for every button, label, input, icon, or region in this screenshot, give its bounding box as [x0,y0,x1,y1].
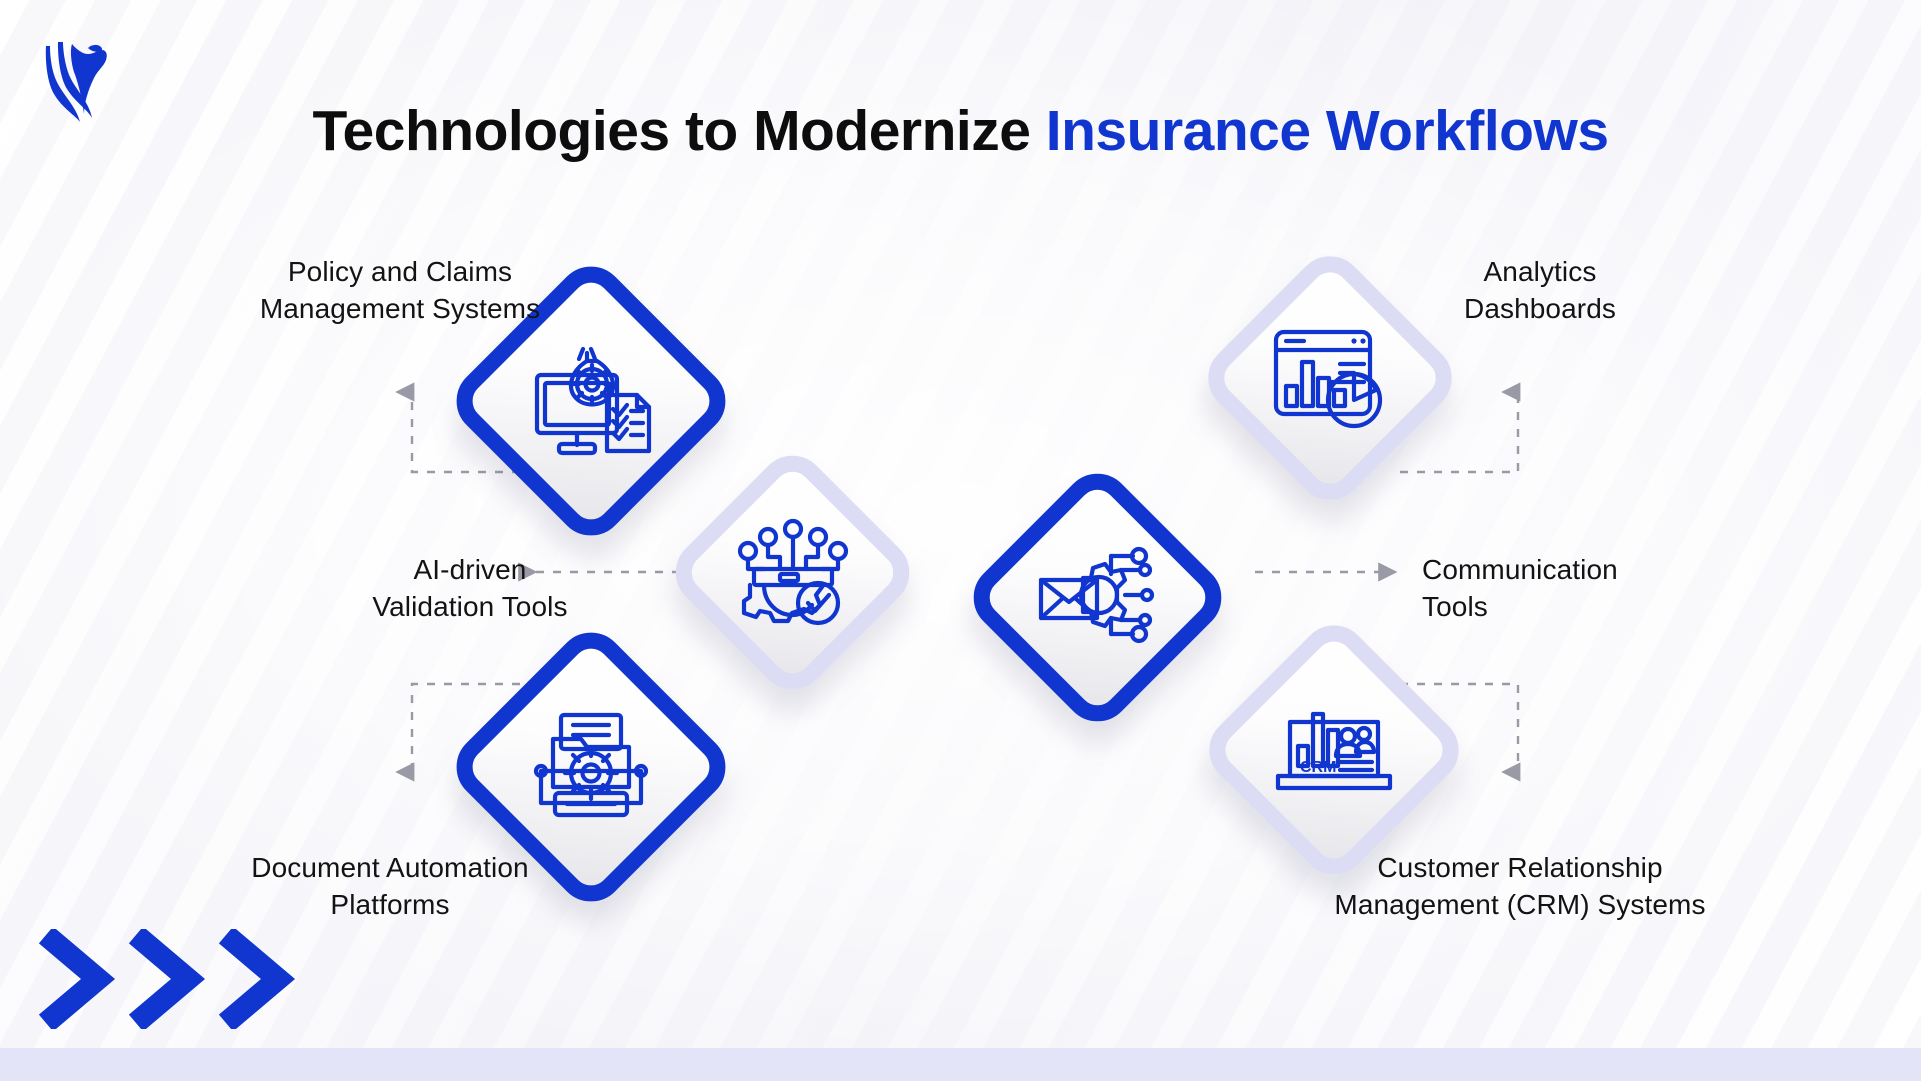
label-line-2: Dashboards [1370,290,1710,327]
ai-network-gear-check-icon [700,480,885,665]
node-communication-tools[interactable] [1000,500,1195,695]
printer-folder-gear-icon [486,662,696,872]
node-document-automation[interactable] [486,662,696,872]
label-line-2: Management Systems [240,290,560,327]
node-ai-validation[interactable] [700,480,885,665]
double-chevron-right-icon [38,929,296,1029]
bottom-accent-band [0,1048,1921,1081]
laptop-crm-people-icon: CRM [1236,652,1432,848]
infographic-canvas: Technologies to Modernize Insurance Work… [0,0,1921,1081]
page-title-plain: Technologies to Modernize [312,99,1045,163]
label-line-2: Tools [1422,588,1782,625]
page-title-highlight: Insurance Workflows [1046,99,1609,163]
label-line-1: Document Automation [220,849,560,886]
chevron-right-icon-1 [38,929,116,1029]
label-ai-validation: AI-driven Validation Tools [320,551,620,625]
label-document-automation: Document Automation Platforms [220,849,560,923]
label-line-1: Analytics [1370,253,1710,290]
label-line-1: Communication [1422,551,1782,588]
label-analytics-dashboards: Analytics Dashboards [1370,253,1710,327]
label-line-1: Policy and Claims [240,253,560,290]
envelope-gear-network-icon [1000,500,1195,695]
label-policy-claims: Policy and Claims Management Systems [240,253,560,327]
page-title: Technologies to Modernize Insurance Work… [0,100,1921,163]
label-line-2: Platforms [220,886,560,923]
node-crm-systems[interactable]: CRM [1236,652,1432,848]
monitor-moneybag-gear-checklist-icon [486,296,696,506]
label-line-1: AI-driven [320,551,620,588]
label-crm-systems: Customer Relationship Management (CRM) S… [1320,849,1720,923]
label-line-2: Management (CRM) Systems [1320,886,1720,923]
node-policy-claims[interactable] [486,296,696,506]
label-line-2: Validation Tools [320,588,620,625]
label-communication-tools: Communication Tools [1422,551,1782,625]
chevron-right-icon-3 [218,929,296,1029]
chevron-right-icon-2 [128,929,206,1029]
label-line-1: Customer Relationship [1320,849,1720,886]
crm-icon-text: CRM [1300,759,1336,776]
